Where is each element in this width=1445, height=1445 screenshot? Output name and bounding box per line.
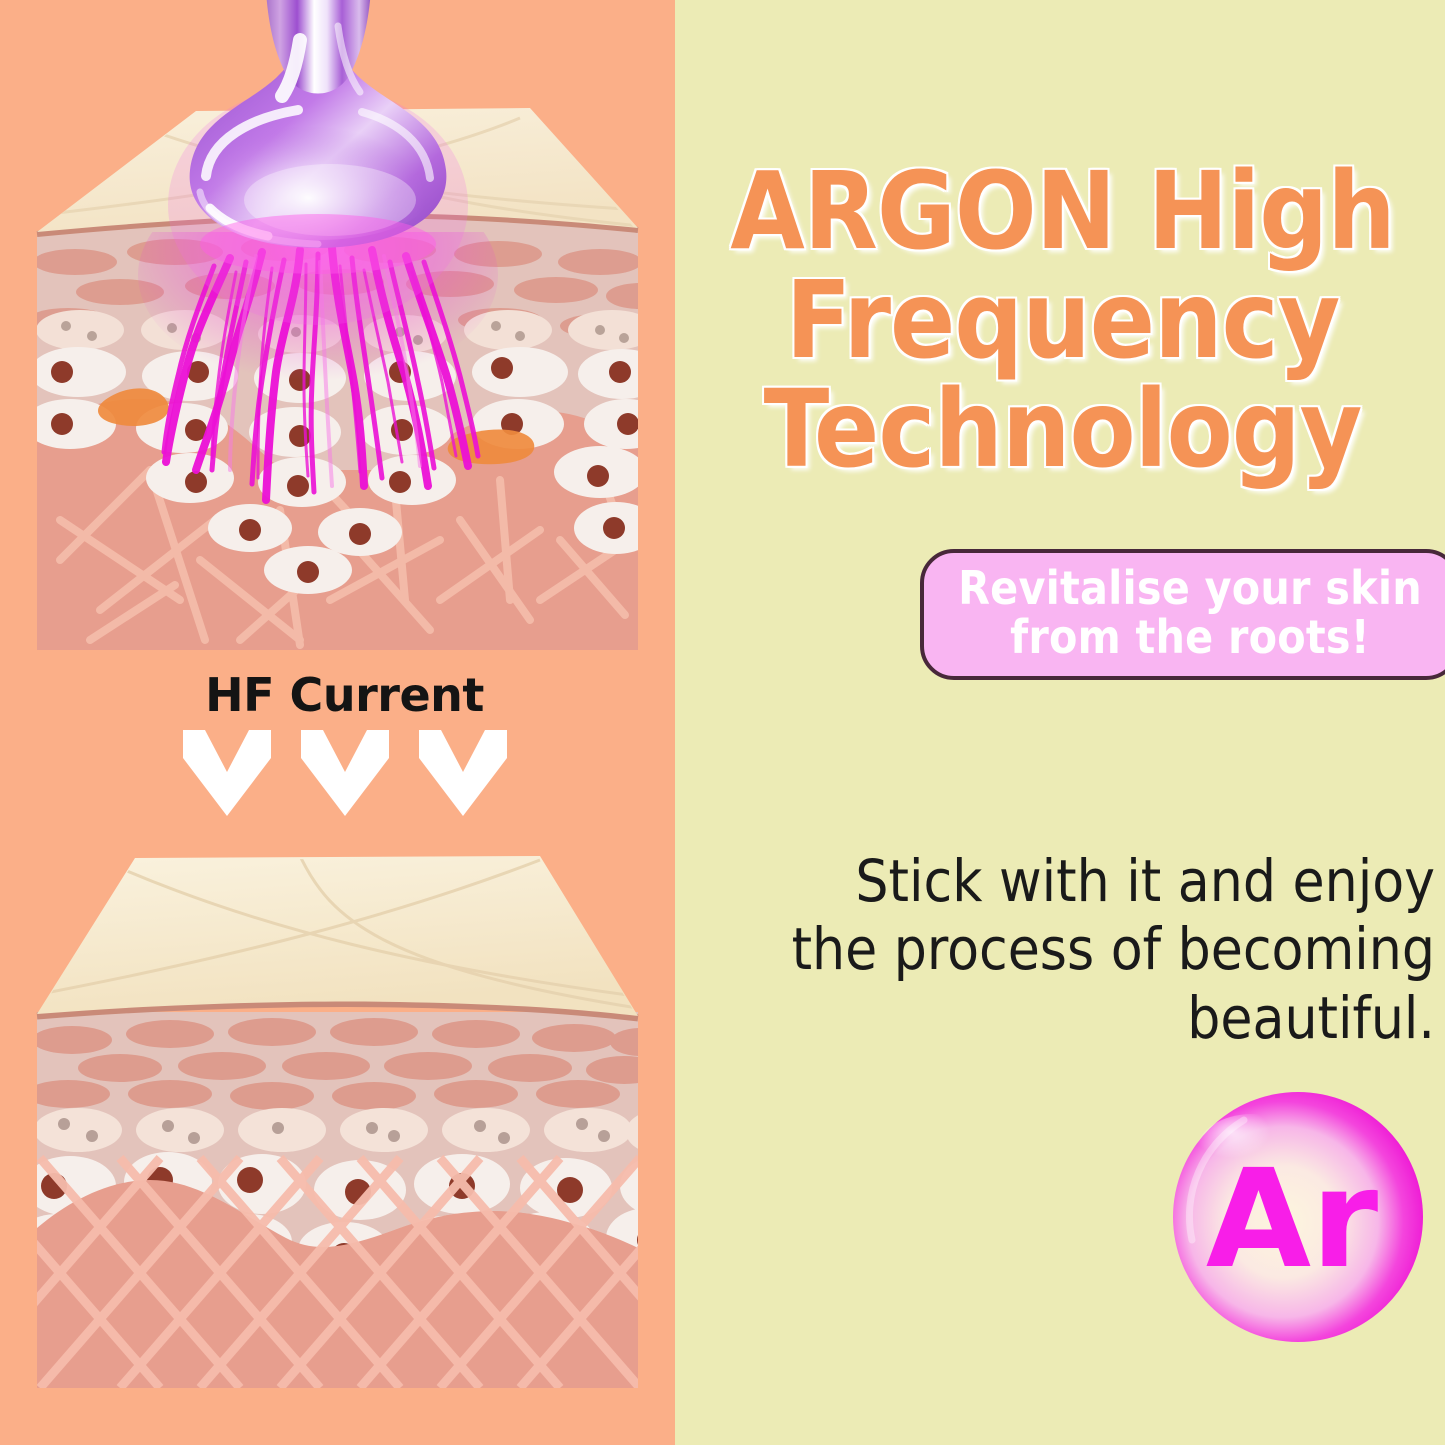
infographic-root: HF Current (0, 0, 1445, 1445)
skin-cross-section-with-electrode (0, 0, 675, 665)
tagline-badge: Revitalise your skin from the roots! (920, 549, 1445, 680)
element-symbol: Ar (1206, 1141, 1378, 1299)
hf-current-label: HF Current (191, 672, 484, 718)
skin-surface-top (30, 856, 650, 1016)
healthy-skin-cross-section (0, 828, 675, 1398)
chevron-down-icon (299, 728, 391, 818)
glass-electrode-wand (168, 0, 468, 325)
hf-current-arrow-group (167, 728, 509, 818)
chevron-down-icon (181, 728, 273, 818)
body-copy: Stick with it and enjoy the process of b… (760, 847, 1435, 1052)
tagline-badge-text: Revitalise your skin from the roots! (958, 564, 1422, 662)
hf-current-indicator: HF Current (0, 672, 675, 822)
left-illustration-panel: HF Current (0, 0, 675, 1445)
chevron-down-icon (417, 728, 509, 818)
argon-element-bubble: Ar (1172, 1090, 1424, 1344)
page-title: ARGON High Frequency Technology (690, 158, 1435, 485)
